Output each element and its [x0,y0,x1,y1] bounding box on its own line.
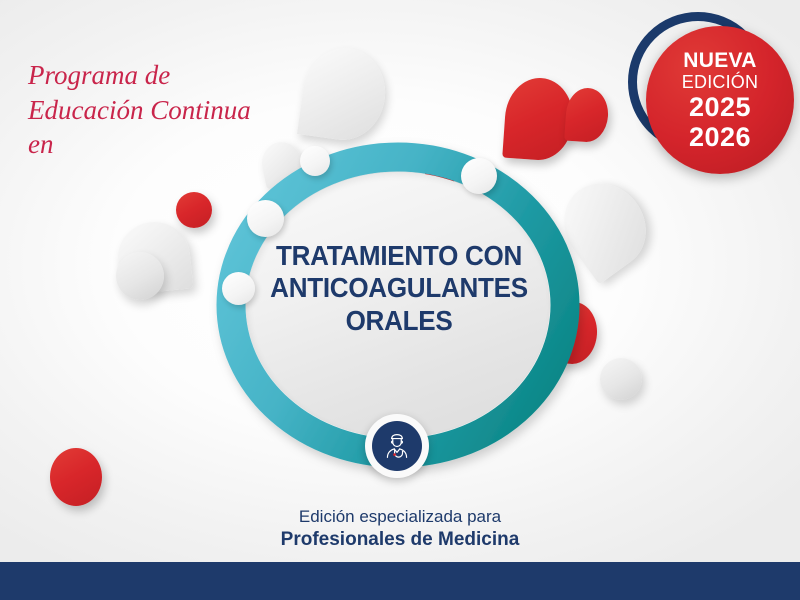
new-edition-badge: NUEVA EDICIÓN 2025 2026 [628,8,794,186]
doctor-badge-inner [372,421,422,471]
programme-line-1: Programa de [28,58,328,93]
footer-caption-line-1: Edición especializada para [0,506,800,528]
ring-nub-upper-left [247,200,284,237]
ring-nub-upper-right [461,158,497,194]
programme-line-2: Educación Continua [28,93,328,128]
edition-badge-circle: NUEVA EDICIÓN 2025 2026 [646,26,794,174]
promotional-poster: TRATAMIENTO CON ANTICOAGULANTES ORALES [0,0,800,600]
edition-badge-nueva: NUEVA [683,50,756,71]
doctor-badge [365,414,429,478]
center-title-line-3: ORALES [249,305,548,337]
edition-badge-year-end: 2026 [689,124,751,151]
edition-badge-year-start: 2025 [689,94,751,121]
edition-badge-edicion: EDICIÓN [682,73,758,91]
footer-caption-line-2: Profesionales de Medicina [0,528,800,552]
grey-dot-lower-right [600,358,642,400]
grey-dot-left [116,252,164,300]
red-dot-left [176,192,212,228]
center-title-line-1: TRATAMIENTO CON [249,240,548,272]
stethoscope-chestpiece [393,453,396,456]
programme-line-3: en [28,127,328,162]
page-title: TRATAMIENTO CON ANTICOAGULANTES ORALES [249,240,548,337]
red-speech-bubble-small [564,87,610,144]
bottom-bar [0,562,800,600]
programme-heading: Programa de Educación Continua en [28,58,328,162]
doctor-with-stethoscope-icon [380,429,414,463]
red-dot-bottom-left [50,448,102,506]
footer-caption: Edición especializada para Profesionales… [0,506,800,552]
center-title-line-2: ANTICOAGULANTES [249,272,548,304]
